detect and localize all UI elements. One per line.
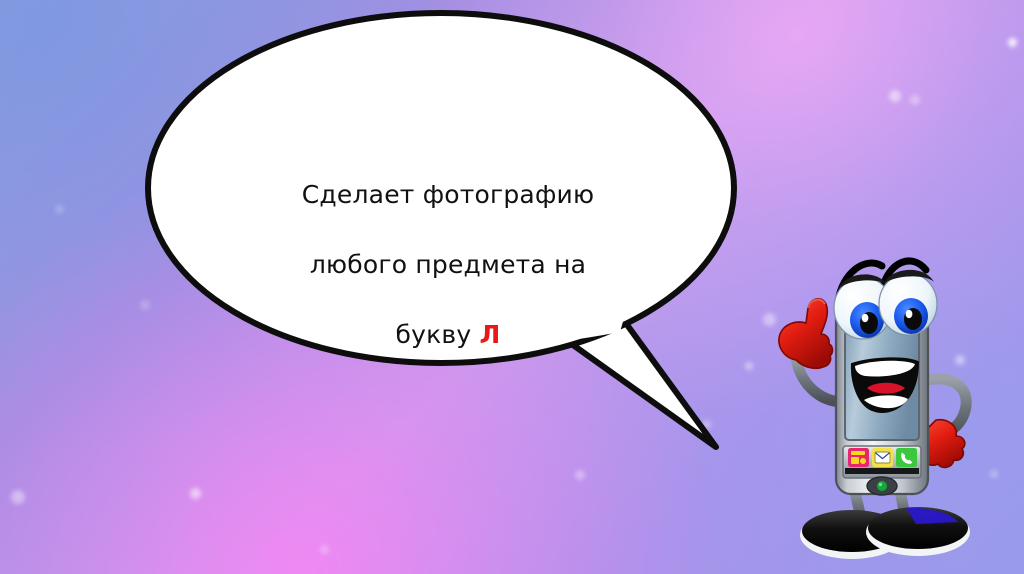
bubble-text-line-3: букву Л (248, 317, 648, 352)
smartphone-mascot (766, 250, 1024, 574)
mascot-shoe-right (866, 507, 970, 556)
bubble-text-line-1: Сделает фотографию (248, 177, 648, 212)
bubble-text-line-3-prefix: букву (396, 320, 480, 349)
mascot-home-button[interactable] (867, 477, 897, 495)
bubble-text-line-2: любого предмета на (248, 247, 648, 282)
camera-app-icon[interactable] (848, 448, 869, 467)
slide-canvas: Сделает фотографию любого предмета на бу… (0, 0, 1024, 574)
phone-app-icon[interactable] (896, 448, 917, 467)
mascot-eye-right (879, 270, 937, 335)
highlight-letter: Л (480, 320, 501, 349)
mail-app-icon[interactable] (872, 448, 893, 467)
mascot-left-glove-thumbs-up (779, 299, 833, 369)
bubble-text-block: Сделает фотографию любого предмета на бу… (248, 142, 648, 387)
